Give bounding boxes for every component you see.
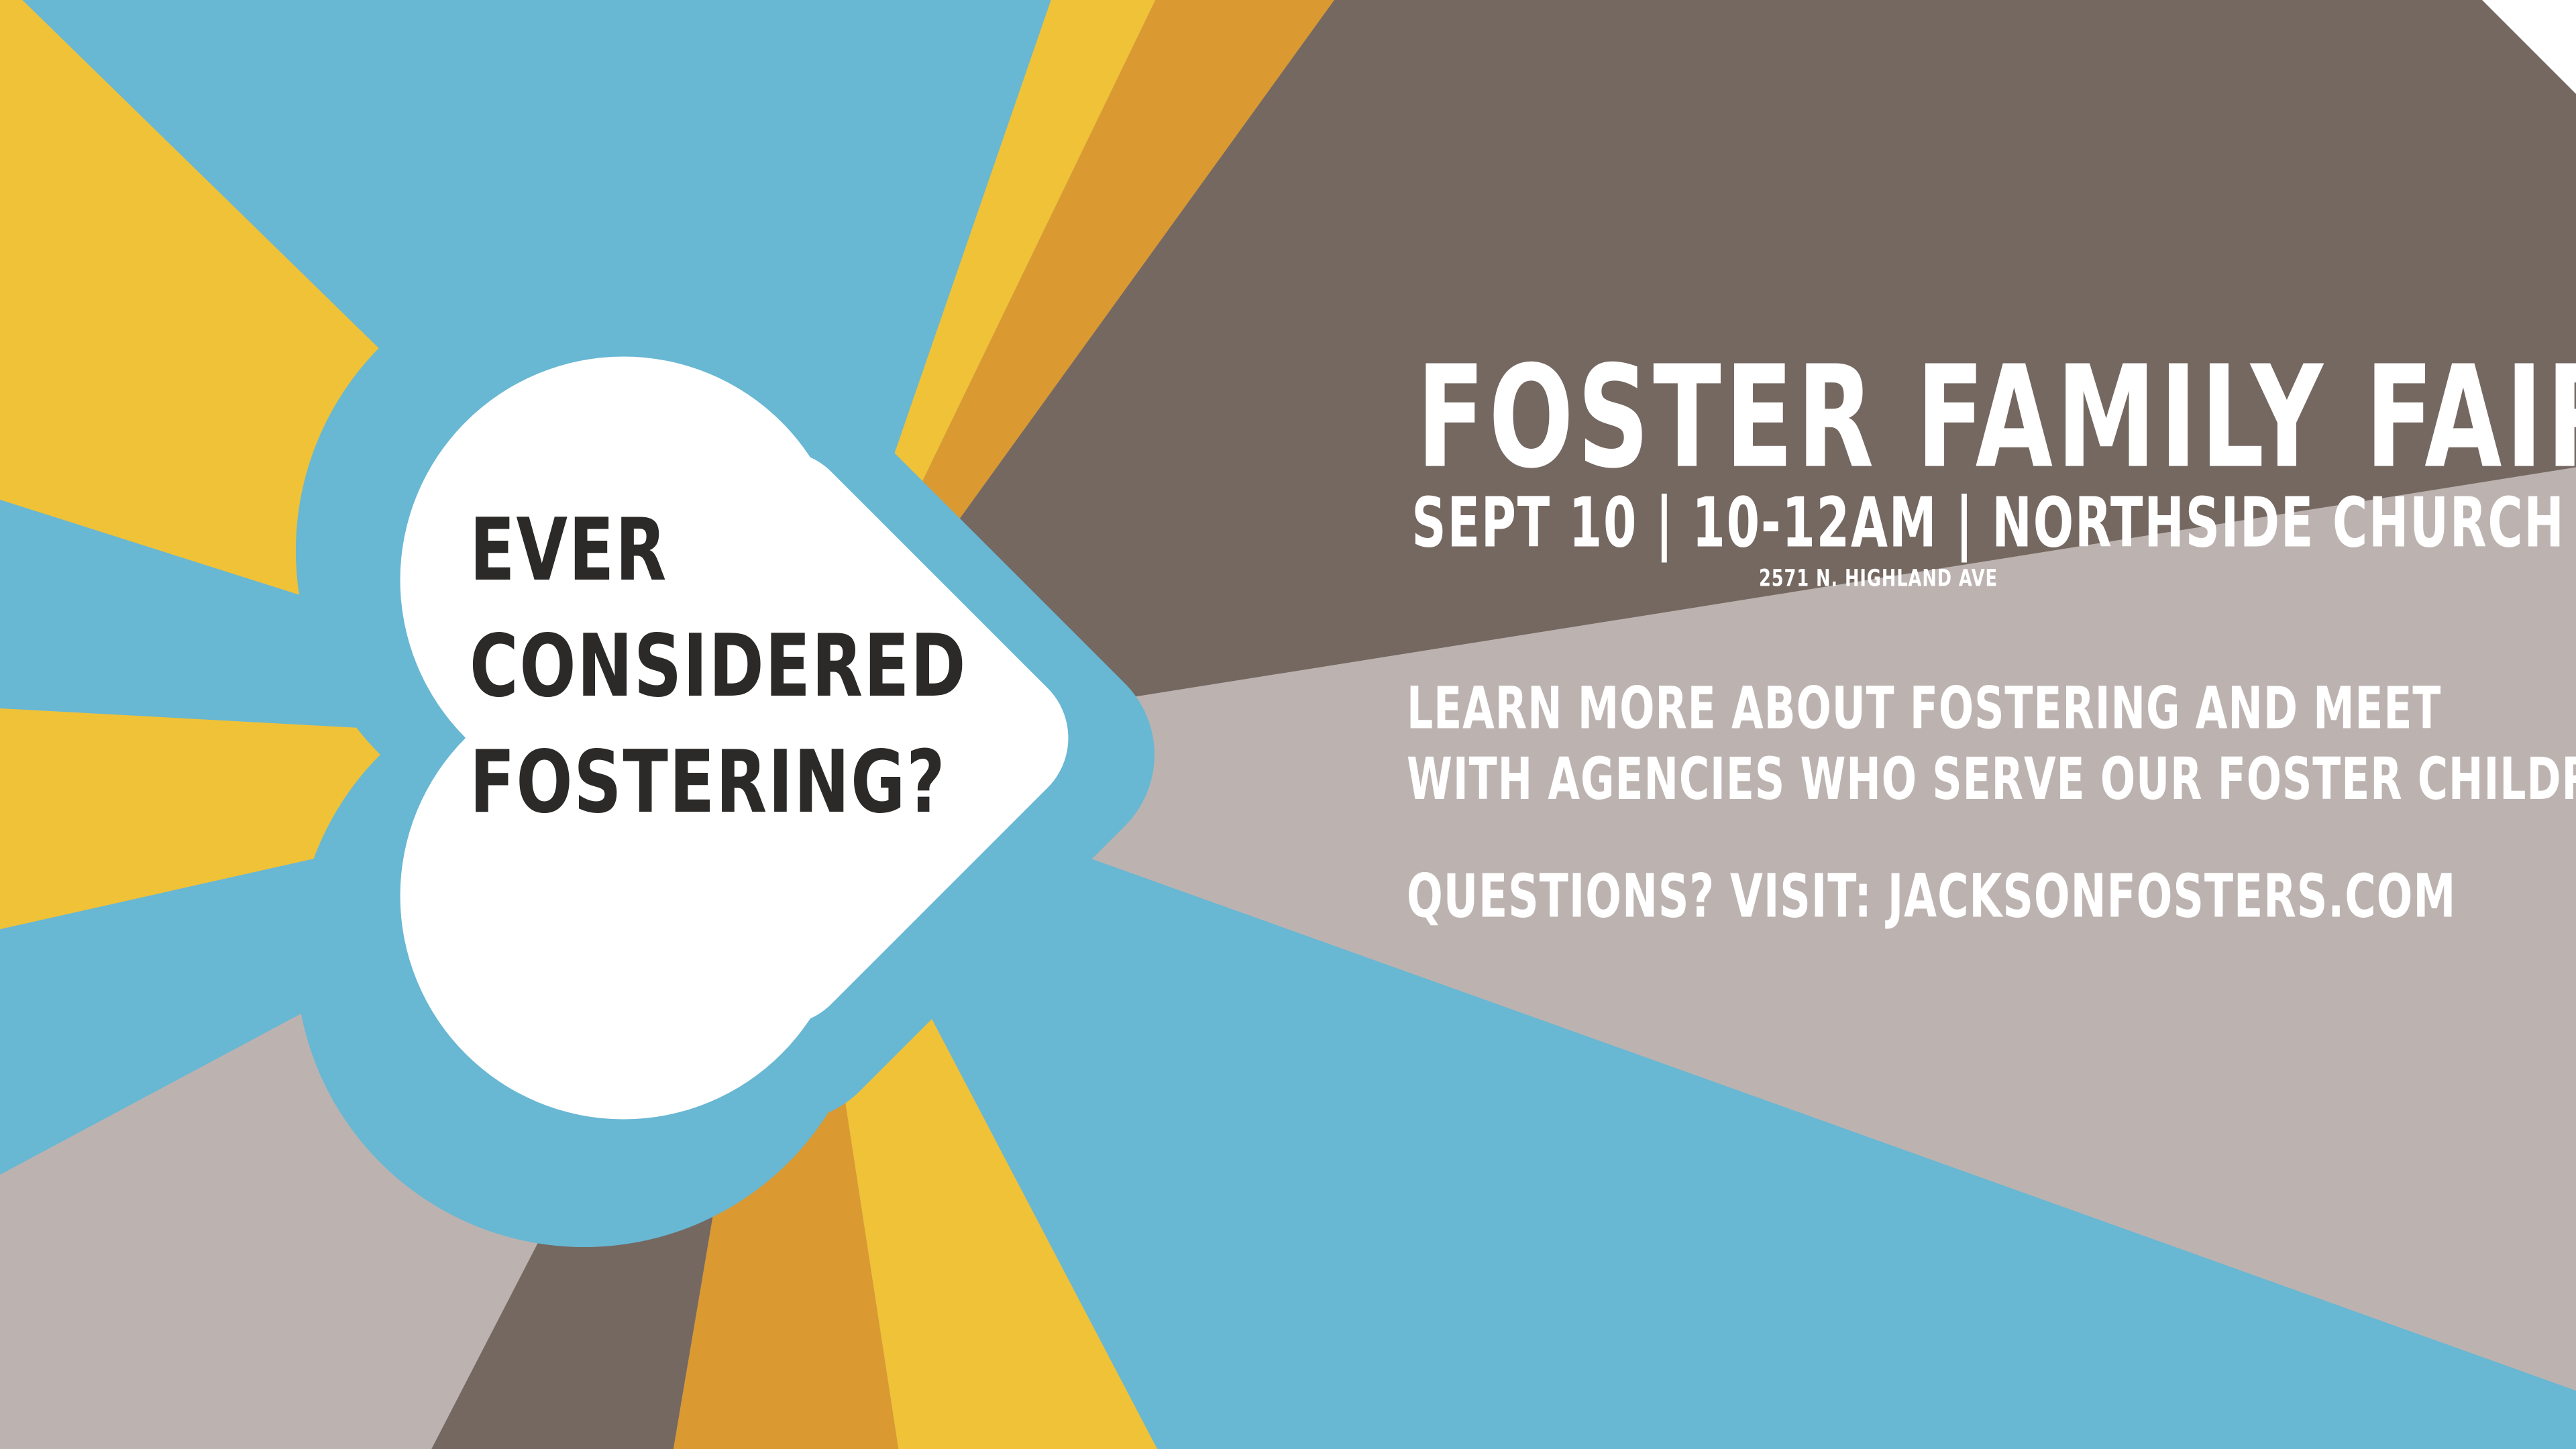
heart-headline-line-3: FOSTERING? <box>470 725 966 841</box>
heart-headline: EVER CONSIDERED FOSTERING? <box>470 493 966 841</box>
event-subtitle: SEPT 10 | 10-12AM | NORTHSIDE CHURCH <box>1411 488 2345 557</box>
event-description: LEARN MORE ABOUT FOSTERING AND MEET WITH… <box>1407 674 2350 815</box>
event-description-line-1: LEARN MORE ABOUT FOSTERING AND MEET <box>1407 674 2350 744</box>
event-copy-block: FOSTER FAMILY FAIR SEPT 10 | 10-12AM | N… <box>1382 349 2375 916</box>
event-address: 2571 N. HIGHLAND AVE <box>1407 568 2350 591</box>
event-description-line-2: WITH AGENCIES WHO SERVE OUR FOSTER CHILD… <box>1407 745 2350 815</box>
event-title: FOSTER FAMILY FAIR <box>1417 349 2340 487</box>
heart-headline-line-2: CONSIDERED <box>470 609 966 725</box>
event-cta-website[interactable]: QUESTIONS? VISIT: JACKSONFOSTERS.COM <box>1407 867 2350 926</box>
poster-canvas: EVER CONSIDERED FOSTERING? FOSTER FAMILY… <box>0 0 2576 1449</box>
heart-headline-line-1: EVER <box>470 493 966 609</box>
